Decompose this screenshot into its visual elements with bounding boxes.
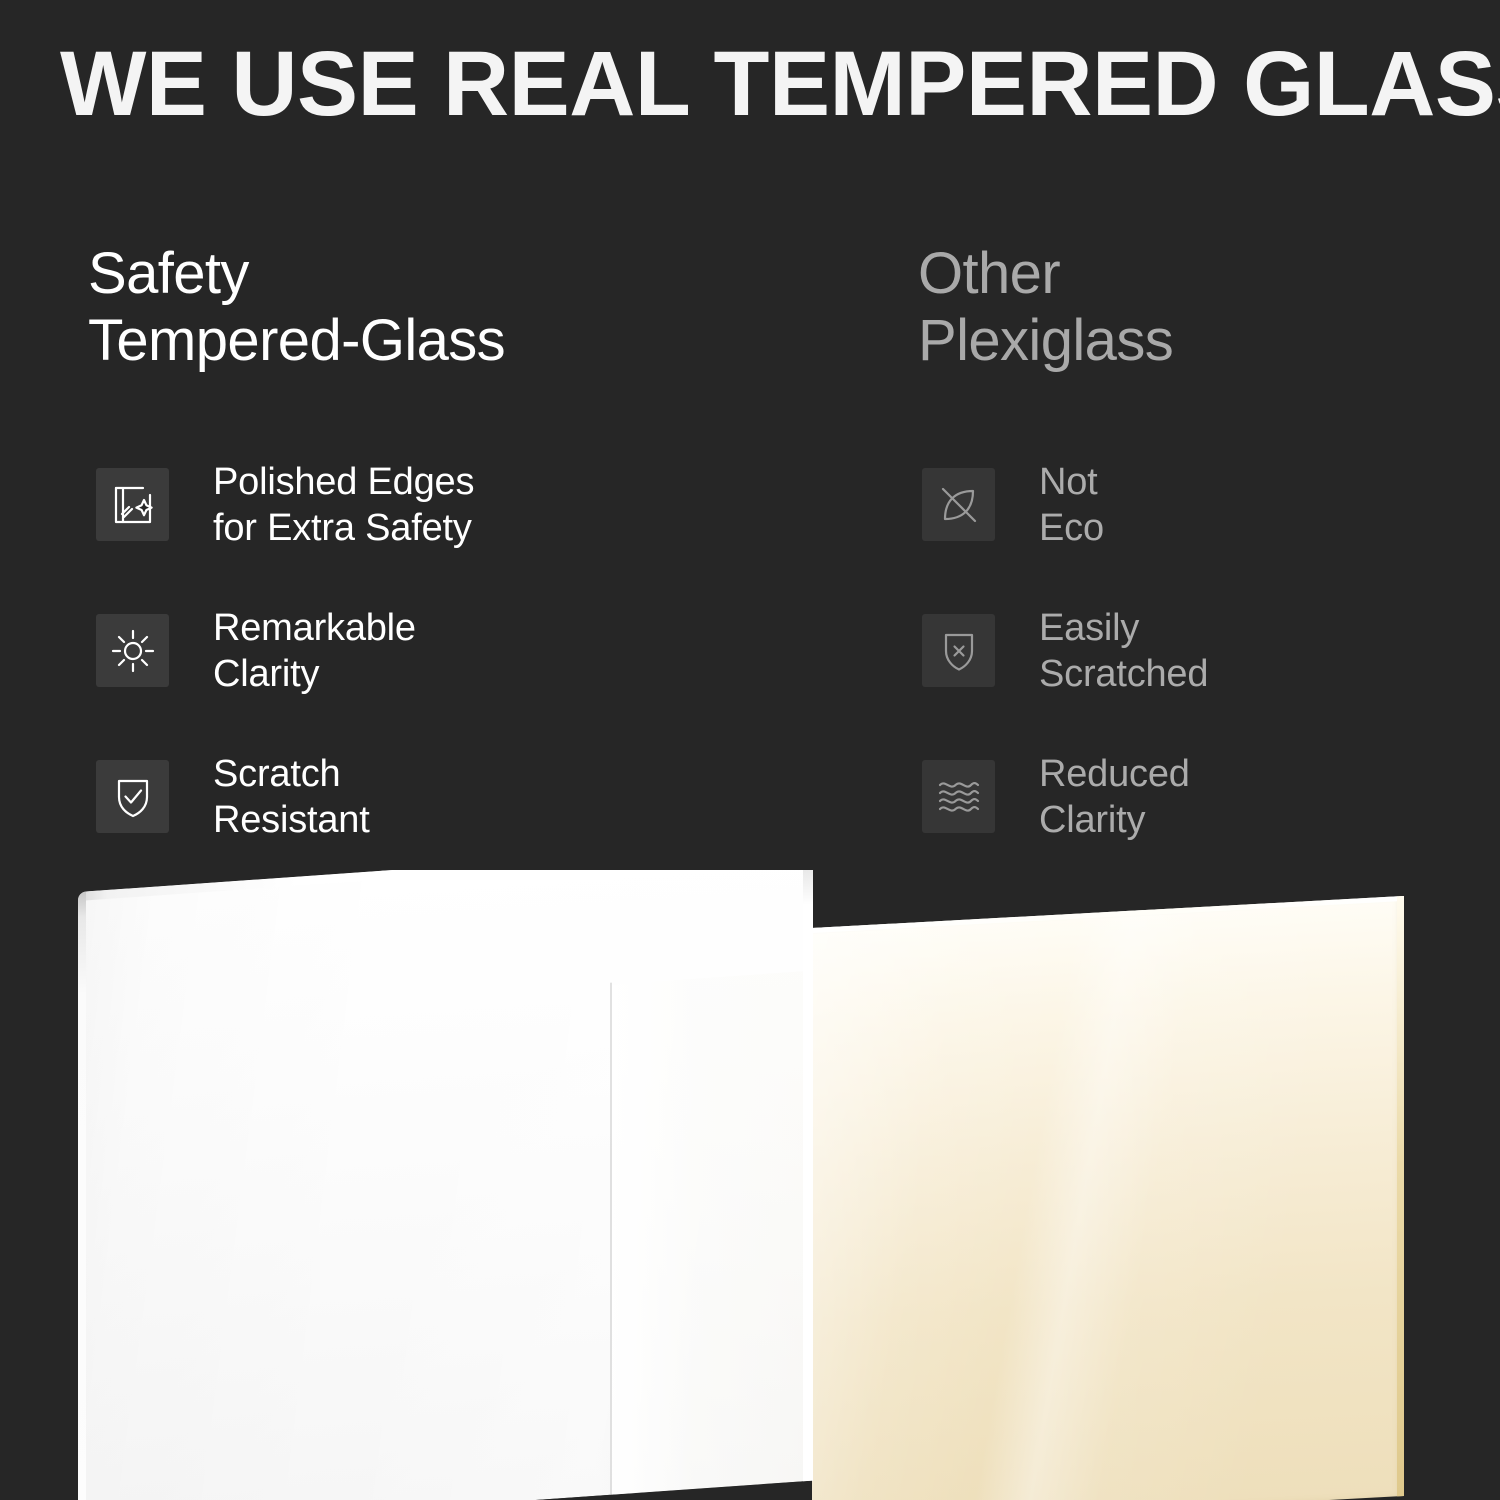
feature-item: Scratch Resistant	[96, 760, 474, 833]
feature-item: Not Eco	[922, 468, 1208, 541]
polished-edge-sparkle-icon	[96, 468, 169, 541]
column-title-left: Safety Tempered-Glass	[88, 240, 848, 374]
feature-list-left: Polished Edges for Extra Safety Remarkab…	[96, 468, 474, 833]
feature-label: Scratch Resistant	[213, 751, 370, 843]
shield-check-icon	[96, 760, 169, 833]
wavy-lines-icon	[922, 760, 995, 833]
shield-x-icon	[922, 614, 995, 687]
plexi-top-edge	[812, 896, 1404, 933]
plexi-right-edge	[1397, 896, 1404, 1496]
feature-label: Easily Scratched	[1039, 605, 1208, 697]
glass-left-edge	[78, 891, 86, 1500]
glass-top-edge	[78, 870, 813, 901]
tempered-glass-panel	[78, 870, 813, 1500]
feature-item: Polished Edges for Extra Safety	[96, 468, 474, 541]
glass-reflection	[612, 971, 812, 1495]
feature-label: Remarkable Clarity	[213, 605, 416, 697]
product-comparison-photo	[0, 870, 1500, 1500]
feature-label: Polished Edges for Extra Safety	[213, 459, 474, 551]
feature-label: Not Eco	[1039, 459, 1104, 551]
column-other-plexiglass: Other Plexiglass Not Eco	[918, 240, 1478, 374]
infographic-page: WE USE REAL TEMPERED GLASS Safety Temper…	[0, 0, 1500, 1500]
glass-right-edge	[803, 870, 813, 1481]
column-title-right: Other Plexiglass	[918, 240, 1478, 374]
feature-item: Remarkable Clarity	[96, 614, 474, 687]
feature-item: Reduced Clarity	[922, 760, 1208, 833]
column-safety-tempered-glass: Safety Tempered-Glass Polished Edges for…	[88, 240, 848, 374]
feature-item: Easily Scratched	[922, 614, 1208, 687]
glass-seam	[610, 983, 612, 1495]
plexiglass-panel	[812, 896, 1404, 1500]
feature-label: Reduced Clarity	[1039, 751, 1190, 843]
leaf-slashed-icon	[922, 468, 995, 541]
sun-clarity-icon	[96, 614, 169, 687]
page-title: WE USE REAL TEMPERED GLASS	[60, 36, 1453, 132]
feature-list-right: Not Eco Easily Scratched	[922, 468, 1208, 833]
